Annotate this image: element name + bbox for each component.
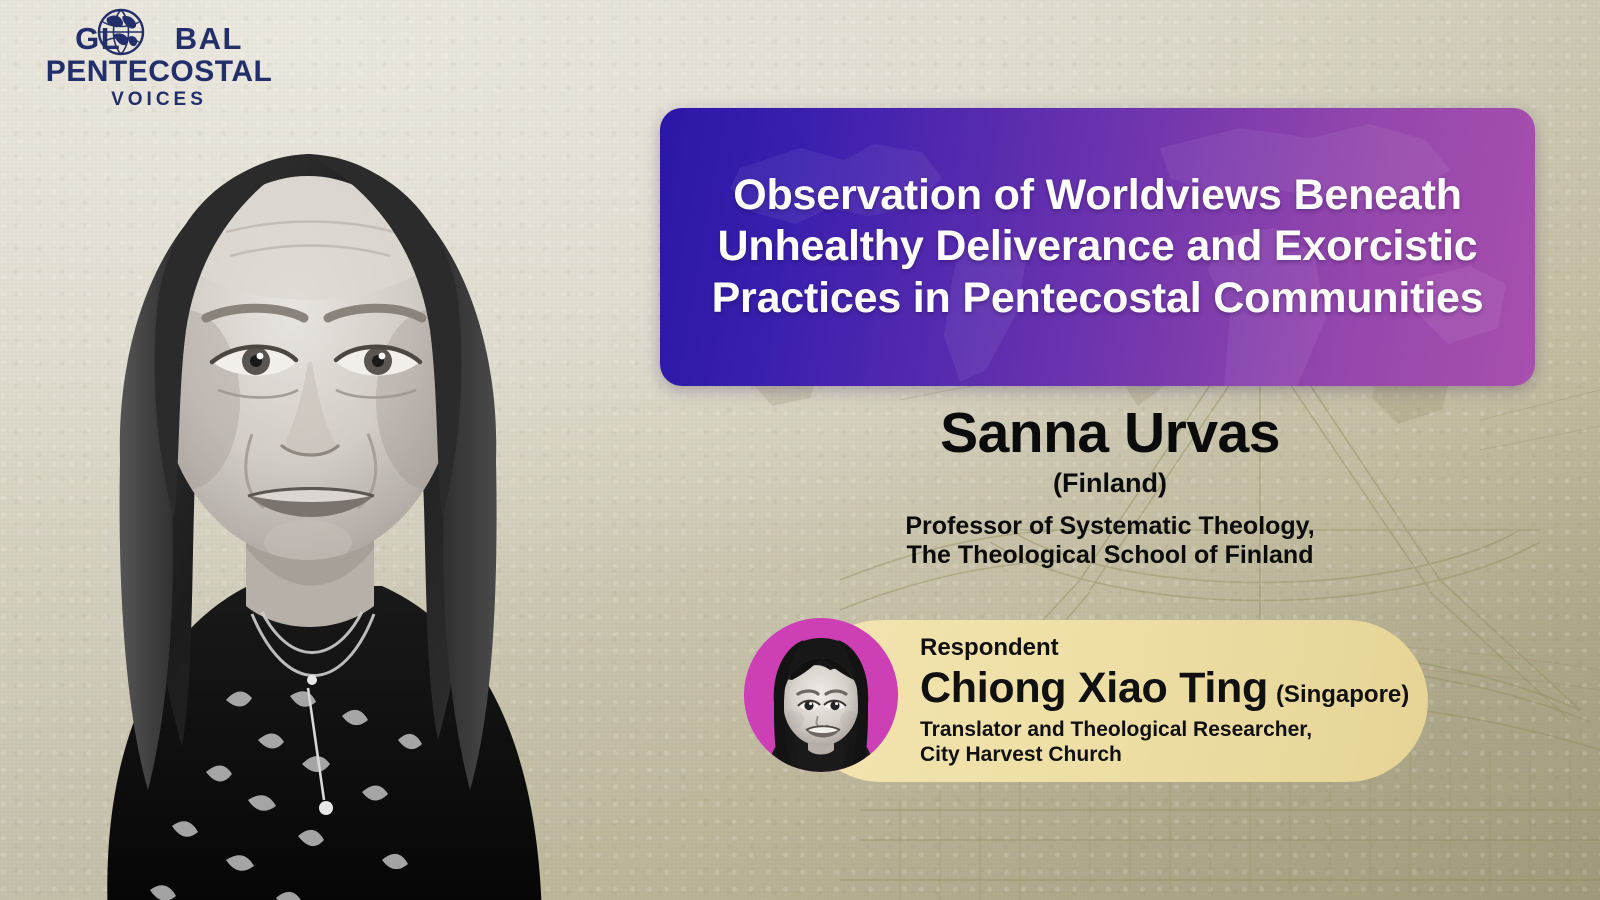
session-title-banner: Observation of Worldviews Beneath Unheal… <box>660 108 1535 386</box>
speaker-role-line-2: The Theological School of Finland <box>760 541 1460 570</box>
respondent-label: Respondent <box>920 634 1409 662</box>
respondent-info: Respondent Chiong Xiao Ting (Singapore) … <box>920 634 1409 767</box>
speaker-role-line-1: Professor of Systematic Theology, <box>760 512 1460 541</box>
presentation-slide: GL BAL PENTECOSTAL VOICES <box>0 0 1600 900</box>
respondent-name: Chiong Xiao Ting <box>920 663 1268 713</box>
globe-icon <box>95 6 147 58</box>
logo-text-bal: BAL <box>175 21 243 56</box>
logo-line-pentecostal: PENTECOSTAL <box>44 56 274 88</box>
respondent-avatar-image <box>744 618 898 772</box>
speaker-info: Sanna Urvas (Finland) Professor of Syste… <box>760 402 1460 570</box>
respondent-role-line-2: City Harvest Church <box>920 742 1409 767</box>
speaker-name: Sanna Urvas <box>760 402 1460 464</box>
respondent-country: (Singapore) <box>1276 680 1409 710</box>
respondent-role-line-1: Translator and Theological Researcher, <box>920 717 1409 742</box>
brand-logo: GL BAL PENTECOSTAL VOICES <box>44 22 274 118</box>
speaker-portrait <box>0 0 760 900</box>
logo-line-global: GL BAL <box>44 22 274 56</box>
speaker-portrait-image <box>0 100 760 900</box>
respondent-avatar <box>744 618 898 772</box>
respondent-name-row: Chiong Xiao Ting (Singapore) <box>920 663 1409 713</box>
logo-line-voices: VOICES <box>44 88 274 112</box>
speaker-country: (Finland) <box>760 466 1460 500</box>
session-title: Observation of Worldviews Beneath Unheal… <box>660 170 1535 325</box>
